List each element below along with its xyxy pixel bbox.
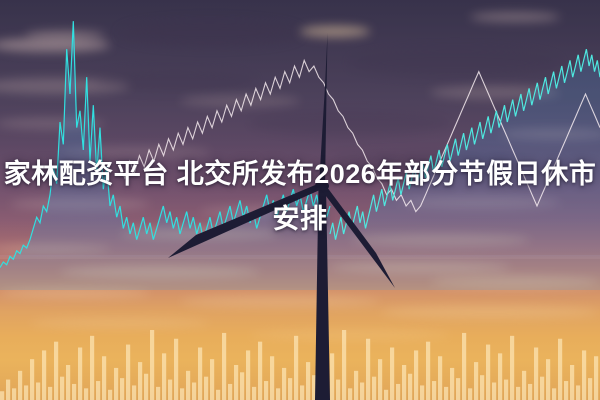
- headline-line-2: 安排: [0, 197, 600, 242]
- headline-line-1: 家林配资平台 北交所发布2026年部分节假日休市: [0, 152, 600, 197]
- banner-image: 家林配资平台 北交所发布2026年部分节假日休市 安排: [0, 0, 600, 400]
- headline: 家林配资平台 北交所发布2026年部分节假日休市 安排: [0, 152, 600, 242]
